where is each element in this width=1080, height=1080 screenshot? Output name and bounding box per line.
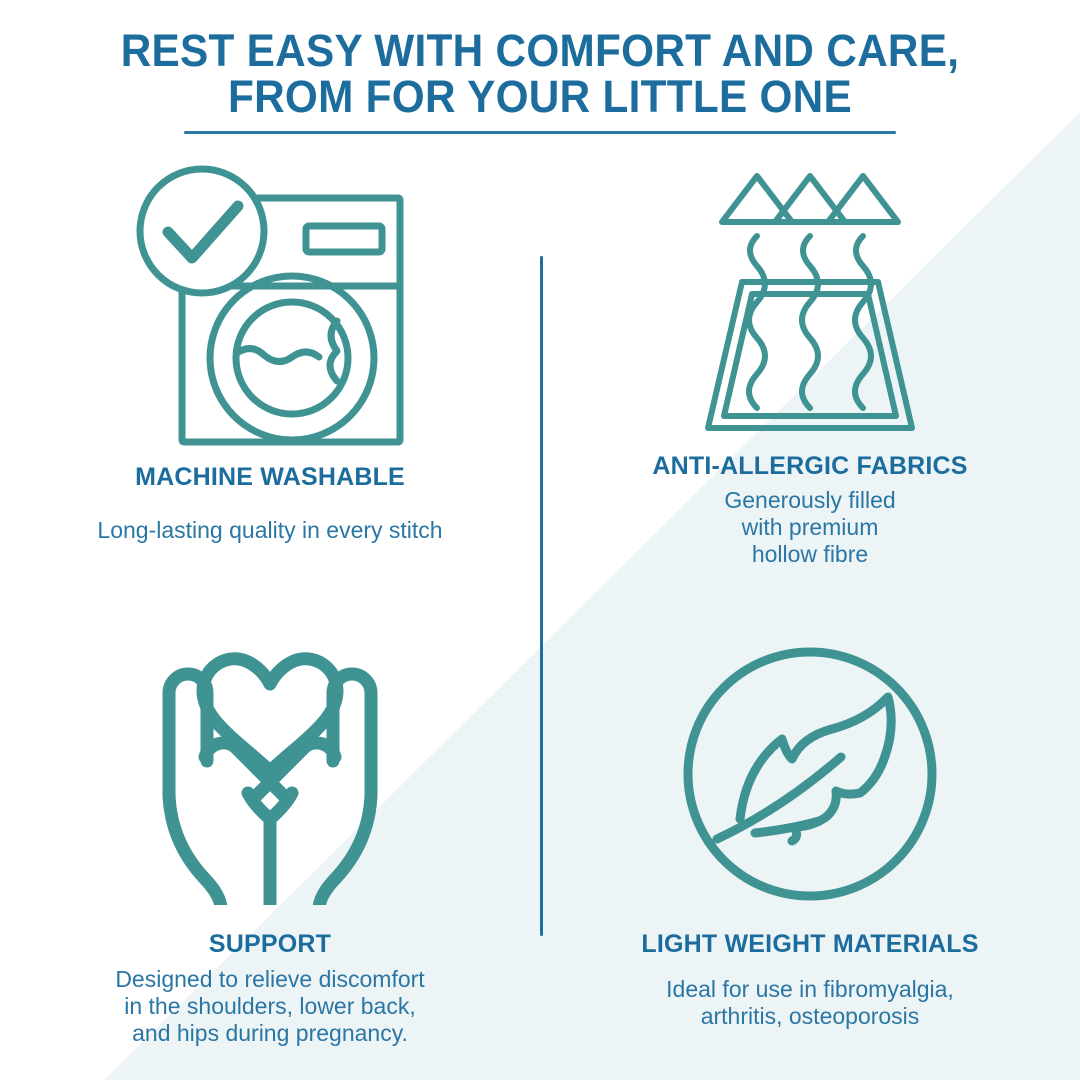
hands-holding-heart-icon [139, 643, 401, 905]
feature-grid: MACHINE WASHABLE Long-lasting quality in… [0, 158, 1080, 1078]
headline-underline [184, 131, 896, 134]
feature-card-anti-allergic-fabrics: ANTI-ALLERGIC FABRICS Generously filled … [560, 158, 1060, 568]
feather-in-circle-icon [679, 643, 941, 905]
feature-description: Designed to relieve discomfort in the sh… [115, 966, 424, 1047]
feature-card-light-weight-materials: LIGHT WEIGHT MATERIALS Ideal for use in … [560, 620, 1060, 1030]
icon-slot [139, 620, 401, 905]
icon-slot [130, 158, 410, 448]
icon-slot [680, 158, 940, 448]
feature-card-machine-washable: MACHINE WASHABLE Long-lasting quality in… [20, 158, 520, 544]
feature-description: Ideal for use in fibromyalgia, arthritis… [666, 976, 954, 1030]
breathable-fabric-arrows-icon [680, 166, 940, 448]
icon-slot [679, 620, 941, 905]
feature-card-support: SUPPORT Designed to relieve discomfort i… [20, 620, 520, 1047]
washing-machine-check-icon [130, 158, 410, 448]
headline-block: REST EASY WITH COMFORT AND CARE, FROM FO… [0, 28, 1080, 134]
feature-title: MACHINE WASHABLE [135, 464, 405, 491]
feature-description: Generously filled with premium hollow fi… [724, 487, 895, 568]
infographic-canvas: REST EASY WITH COMFORT AND CARE, FROM FO… [0, 0, 1080, 1080]
page-title: REST EASY WITH COMFORT AND CARE, FROM FO… [32, 28, 1047, 120]
feature-title: LIGHT WEIGHT MATERIALS [641, 931, 978, 958]
feature-title: ANTI-ALLERGIC FABRICS [652, 453, 967, 480]
feature-title: SUPPORT [209, 931, 331, 958]
feature-description: Long-lasting quality in every stitch [97, 517, 442, 544]
